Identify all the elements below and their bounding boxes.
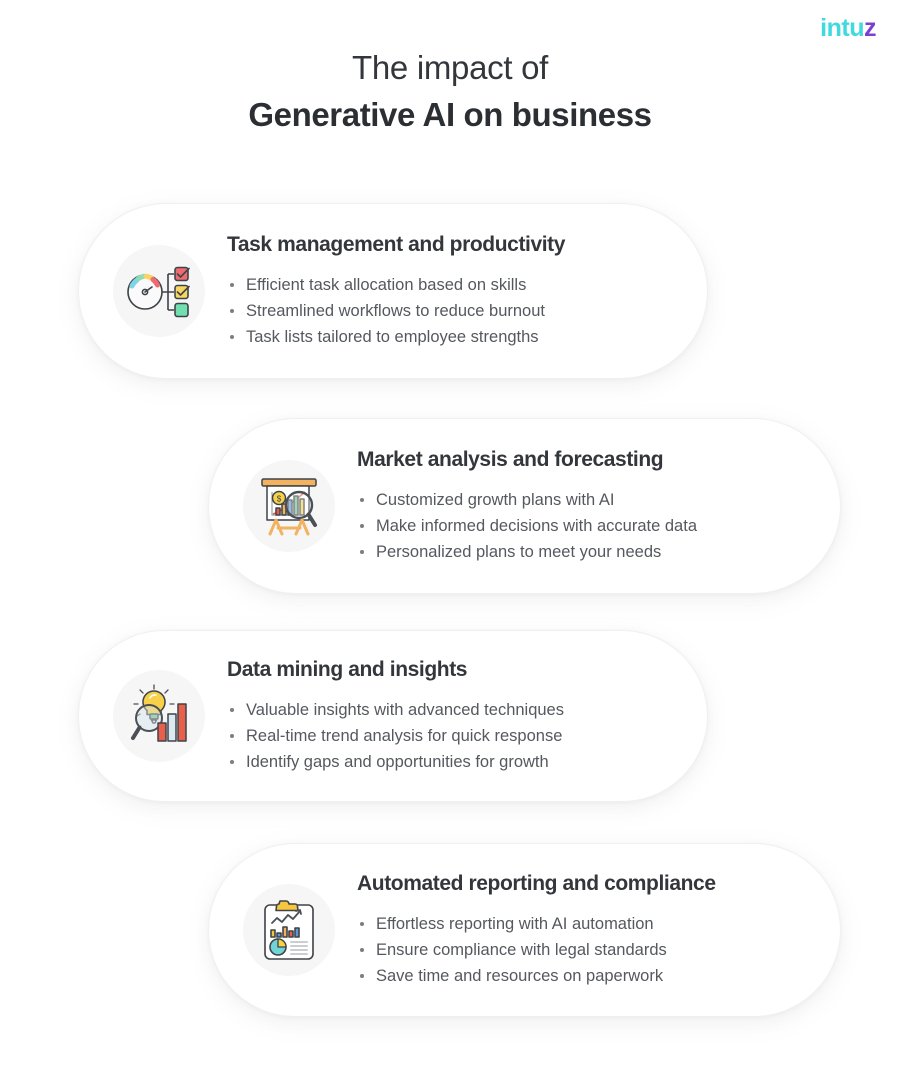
card-bullet-list: Customized growth plans with AI Make inf… xyxy=(357,487,814,565)
card-heading: Market analysis and forecasting xyxy=(357,447,814,472)
card-automated-reporting[interactable]: Automated reporting and compliance Effor… xyxy=(208,843,841,1017)
lightbulb-magnifier-bars-icon xyxy=(113,670,205,762)
logo-text: intu xyxy=(820,14,864,42)
list-item: Customized growth plans with AI xyxy=(357,487,814,513)
list-item: Efficient task allocation based on skill… xyxy=(227,272,681,298)
list-item: Task lists tailored to employee strength… xyxy=(227,324,681,350)
infographic-page: intuz The impact of Generative AI on bus… xyxy=(0,0,900,1080)
card-body: Data mining and insights Valuable insigh… xyxy=(205,657,707,774)
list-item: Identify gaps and opportunities for grow… xyxy=(227,749,681,775)
svg-text:$: $ xyxy=(277,495,282,504)
list-item: Make informed decisions with accurate da… xyxy=(357,513,814,539)
logo-accent-letter: z xyxy=(864,14,876,42)
card-heading: Automated reporting and compliance xyxy=(357,871,814,896)
list-item: Ensure compliance with legal standards xyxy=(357,937,814,963)
card-heading: Task management and productivity xyxy=(227,232,681,257)
page-title: The impact of Generative AI on business xyxy=(0,46,900,138)
list-item: Valuable insights with advanced techniqu… xyxy=(227,697,681,723)
title-line-2: Generative AI on business xyxy=(0,91,900,139)
card-body: Market analysis and forecasting Customiz… xyxy=(335,447,840,564)
list-item: Streamlined workflows to reduce burnout xyxy=(227,298,681,324)
card-heading: Data mining and insights xyxy=(227,657,681,682)
list-item: Save time and resources on paperwork xyxy=(357,963,814,989)
clipboard-report-icon xyxy=(243,884,335,976)
card-body: Task management and productivity Efficie… xyxy=(205,232,707,349)
card-bullet-list: Valuable insights with advanced techniqu… xyxy=(227,697,681,775)
card-bullet-list: Effortless reporting with AI automation … xyxy=(357,911,814,989)
card-market-analysis[interactable]: $ Market analysis and forecasting Custom… xyxy=(208,418,841,594)
card-bullet-list: Efficient task allocation based on skill… xyxy=(227,272,681,350)
list-item: Effortless reporting with AI automation xyxy=(357,911,814,937)
card-task-management[interactable]: Task management and productivity Efficie… xyxy=(78,203,708,379)
easel-chart-magnifier-icon: $ xyxy=(243,460,335,552)
title-line-1: The impact of xyxy=(0,46,900,91)
intuz-logo: intuz xyxy=(820,16,876,41)
card-data-mining[interactable]: Data mining and insights Valuable insigh… xyxy=(78,630,708,802)
list-item: Real-time trend analysis for quick respo… xyxy=(227,723,681,749)
card-body: Automated reporting and compliance Effor… xyxy=(335,871,840,988)
list-item: Personalized plans to meet your needs xyxy=(357,539,814,565)
gauge-checklist-icon xyxy=(113,245,205,337)
